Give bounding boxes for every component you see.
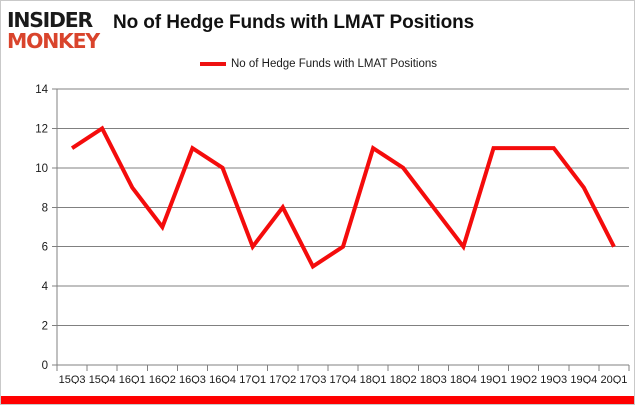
logo-text-top: INSIDER <box>7 10 113 30</box>
logo-text-bottom: MONKEY <box>7 31 113 51</box>
series-line <box>72 128 614 266</box>
x-axis-tick-label: 16Q3 <box>179 374 206 384</box>
y-axis-ticks-group: 02468101214 <box>35 84 57 372</box>
x-axis-tick-label: 17Q2 <box>269 374 296 384</box>
legend-item: No of Hedge Funds with LMAT Positions <box>200 58 437 70</box>
y-axis-tick-label: 2 <box>42 321 48 333</box>
legend-item-label: No of Hedge Funds with LMAT Positions <box>231 58 437 70</box>
y-axis-tick-label: 0 <box>42 360 48 372</box>
y-axis-tick-label: 4 <box>42 281 49 293</box>
x-axis-tick-label: 15Q4 <box>89 374 116 384</box>
x-axis-tick-label: 18Q3 <box>420 374 447 384</box>
x-axis-tick-label: 17Q3 <box>299 374 326 384</box>
series-group <box>72 128 614 266</box>
y-axis-tick-label: 12 <box>35 123 48 135</box>
x-axis-tick-label: 19Q4 <box>570 374 597 384</box>
x-axis-tick-label: 19Q1 <box>480 374 507 384</box>
x-axis-tick-label: 16Q1 <box>119 374 146 384</box>
x-axis-tick-label: 19Q2 <box>510 374 537 384</box>
insider-monkey-logo: INSIDER MONKEY <box>7 10 111 50</box>
x-axis-tick-label: 17Q4 <box>330 374 357 384</box>
x-axis-tick-label: 18Q1 <box>360 374 387 384</box>
y-axis-tick-label: 8 <box>42 202 48 214</box>
chart-page: INSIDER MONKEY No of Hedge Funds with LM… <box>0 0 635 405</box>
x-axis-tick-label: 15Q3 <box>59 374 86 384</box>
chart-legend: No of Hedge Funds with LMAT Positions <box>1 58 635 70</box>
x-axis-tick-label: 19Q3 <box>540 374 567 384</box>
line-chart-svg: 02468101214 15Q315Q416Q116Q216Q316Q417Q1… <box>1 79 635 384</box>
x-axis-tick-label: 16Q2 <box>149 374 176 384</box>
x-axis-tick-label: 18Q4 <box>450 374 477 384</box>
y-axis-tick-label: 10 <box>35 163 48 175</box>
plot-area: 02468101214 15Q315Q416Q116Q216Q316Q417Q1… <box>1 79 635 384</box>
chart-header: INSIDER MONKEY No of Hedge Funds with LM… <box>1 1 635 53</box>
x-axis-tick-label: 20Q1 <box>600 374 627 384</box>
legend-color-swatch <box>200 62 226 66</box>
x-axis-tick-label: 17Q1 <box>239 374 266 384</box>
x-axis-tick-label: 16Q4 <box>209 374 236 384</box>
page-title: No of Hedge Funds with LMAT Positions <box>113 12 474 34</box>
y-axis-tick-label: 14 <box>35 84 48 96</box>
footer-accent-bar <box>1 396 635 404</box>
gridlines-group <box>57 89 629 365</box>
x-axis-tick-label: 18Q2 <box>390 374 417 384</box>
x-axis-ticks-group: 15Q315Q416Q116Q216Q316Q417Q117Q217Q317Q4… <box>57 365 629 384</box>
y-axis-tick-label: 6 <box>42 242 48 254</box>
